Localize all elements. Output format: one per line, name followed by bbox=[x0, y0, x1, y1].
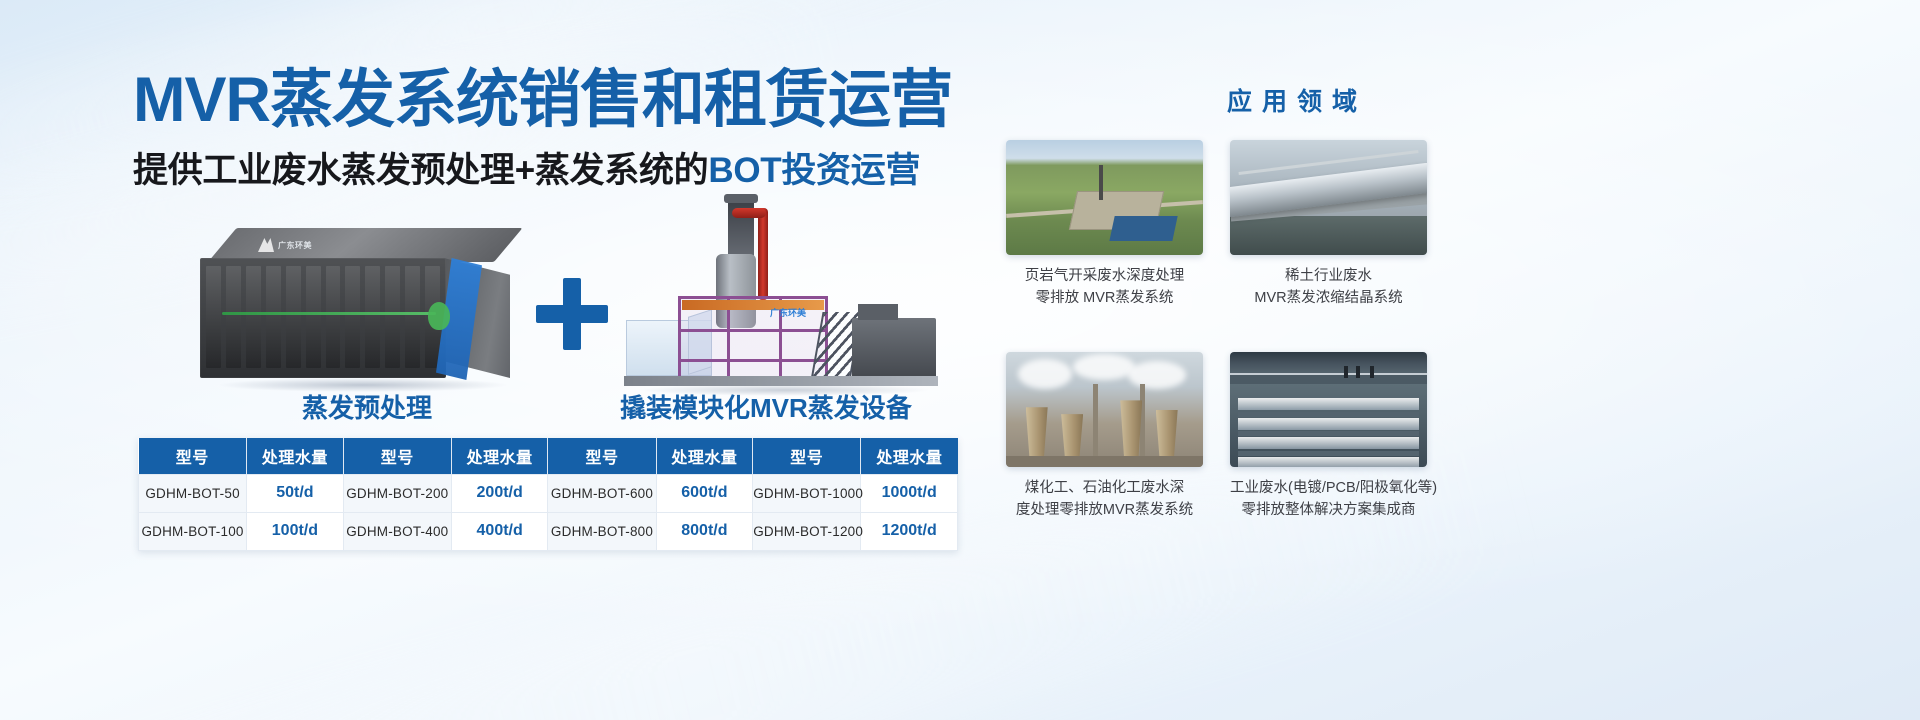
brand-logo: 广东环美 bbox=[258, 234, 348, 256]
spec-table-container: 型号 处理水量 型号 处理水量 型号 处理水量 型号 处理水量 GDHM-BOT… bbox=[138, 438, 958, 551]
column-header: 型号 bbox=[343, 438, 451, 474]
spec-table: 型号 处理水量 型号 处理水量 型号 处理水量 型号 处理水量 GDHM-BOT… bbox=[138, 438, 958, 551]
table-row: GDHM-BOT-100 100t/d GDHM-BOT-400 400t/d … bbox=[139, 512, 958, 550]
caption-line-2: MVR蒸发浓缩结晶系统 bbox=[1230, 287, 1427, 309]
page-subtitle: 提供工业废水蒸发预处理+蒸发系统的BOT投资运营 bbox=[133, 152, 920, 191]
evaporation-pretreatment-unit-image: 广东环美 bbox=[200, 228, 510, 388]
column-header: 型号 bbox=[139, 438, 247, 474]
cell-model: GDHM-BOT-100 bbox=[139, 512, 247, 550]
subtitle-lead: 提供工业废水蒸发预处理+蒸发系统的 bbox=[133, 151, 708, 190]
table-header-row: 型号 处理水量 型号 处理水量 型号 处理水量 型号 处理水量 bbox=[139, 438, 958, 474]
caption-line-1: 稀土行业废水 bbox=[1230, 265, 1427, 287]
caption-line-1: 页岩气开采废水深度处理 bbox=[1006, 265, 1203, 287]
cell-flow: 800t/d bbox=[656, 512, 753, 550]
column-header: 型号 bbox=[753, 438, 861, 474]
caption-line-1: 煤化工、石油化工废水深 bbox=[1006, 477, 1203, 499]
cell-flow: 100t/d bbox=[247, 512, 344, 550]
cell-flow: 200t/d bbox=[451, 474, 548, 512]
application-panel-title: 应用领域 bbox=[1132, 82, 1462, 118]
column-header: 型号 bbox=[548, 438, 656, 474]
brand-logo-label: 广东环美 bbox=[278, 240, 312, 251]
application-card-caption: 煤化工、石油化工废水深 度处理零排放MVR蒸发系统 bbox=[1006, 477, 1203, 522]
column-header: 处理水量 bbox=[861, 438, 958, 474]
shale-gas-field-photo bbox=[1006, 140, 1203, 255]
column-header: 处理水量 bbox=[656, 438, 753, 474]
large-pipe-channel-photo bbox=[1230, 140, 1427, 255]
cell-model: GDHM-BOT-600 bbox=[548, 474, 656, 512]
application-card-shale-gas[interactable]: 页岩气开采废水深度处理 零排放 MVR蒸发系统 bbox=[1006, 140, 1203, 310]
column-header: 处理水量 bbox=[247, 438, 344, 474]
cell-model: GDHM-BOT-1200 bbox=[753, 512, 861, 550]
caption-line-2: 零排放整体解决方案集成商 bbox=[1230, 499, 1427, 521]
application-card-caption: 工业废水(电镀/PCB/阳极氧化等) 零排放整体解决方案集成商 bbox=[1230, 477, 1427, 522]
plus-icon bbox=[536, 278, 608, 350]
application-card-caption: 稀土行业废水 MVR蒸发浓缩结晶系统 bbox=[1230, 265, 1427, 310]
cell-model: GDHM-BOT-800 bbox=[548, 512, 656, 550]
column-header: 处理水量 bbox=[451, 438, 548, 474]
page-title: MVR蒸发系统销售和租赁运营 bbox=[133, 68, 952, 134]
aeration-basin-photo bbox=[1230, 352, 1427, 467]
caption-line-2: 度处理零排放MVR蒸发系统 bbox=[1006, 499, 1203, 521]
cell-model: GDHM-BOT-400 bbox=[343, 512, 451, 550]
cell-flow: 400t/d bbox=[451, 512, 548, 550]
cell-flow: 50t/d bbox=[247, 474, 344, 512]
cell-flow: 600t/d bbox=[656, 474, 753, 512]
banner-stage: MVR蒸发系统销售和租赁运营 提供工业废水蒸发预处理+蒸发系统的BOT投资运营 … bbox=[0, 0, 1920, 720]
application-card-rare-earth[interactable]: 稀土行业废水 MVR蒸发浓缩结晶系统 bbox=[1230, 140, 1427, 310]
coal-chemical-plant-photo bbox=[1006, 352, 1203, 467]
product-caption-mvr-equipment: 撬装模块化MVR蒸发设备 bbox=[620, 388, 912, 425]
cell-flow: 1000t/d bbox=[861, 474, 958, 512]
cell-model: GDHM-BOT-1000 bbox=[753, 474, 861, 512]
brand-mark-icon bbox=[258, 238, 274, 252]
product-caption-pretreatment: 蒸发预处理 bbox=[302, 388, 432, 425]
cell-flow: 1200t/d bbox=[861, 512, 958, 550]
application-card-coal-chemical[interactable]: 煤化工、石油化工废水深 度处理零排放MVR蒸发系统 bbox=[1006, 352, 1203, 522]
subtitle-accent: BOT投资运营 bbox=[708, 151, 920, 190]
cell-model: GDHM-BOT-50 bbox=[139, 474, 247, 512]
equipment-brand-badge: 广东环美 bbox=[770, 306, 806, 319]
application-card-industrial-wastewater[interactable]: 工业废水(电镀/PCB/阳极氧化等) 零排放整体解决方案集成商 bbox=[1230, 352, 1427, 522]
caption-line-2: 零排放 MVR蒸发系统 bbox=[1006, 287, 1203, 309]
application-card-caption: 页岩气开采废水深度处理 零排放 MVR蒸发系统 bbox=[1006, 265, 1203, 310]
cell-model: GDHM-BOT-200 bbox=[343, 474, 451, 512]
caption-line-1: 工业废水(电镀/PCB/阳极氧化等) bbox=[1230, 477, 1427, 499]
skid-mounted-mvr-equipment-image: 广东环美 bbox=[620, 200, 950, 395]
table-row: GDHM-BOT-50 50t/d GDHM-BOT-200 200t/d GD… bbox=[139, 474, 958, 512]
